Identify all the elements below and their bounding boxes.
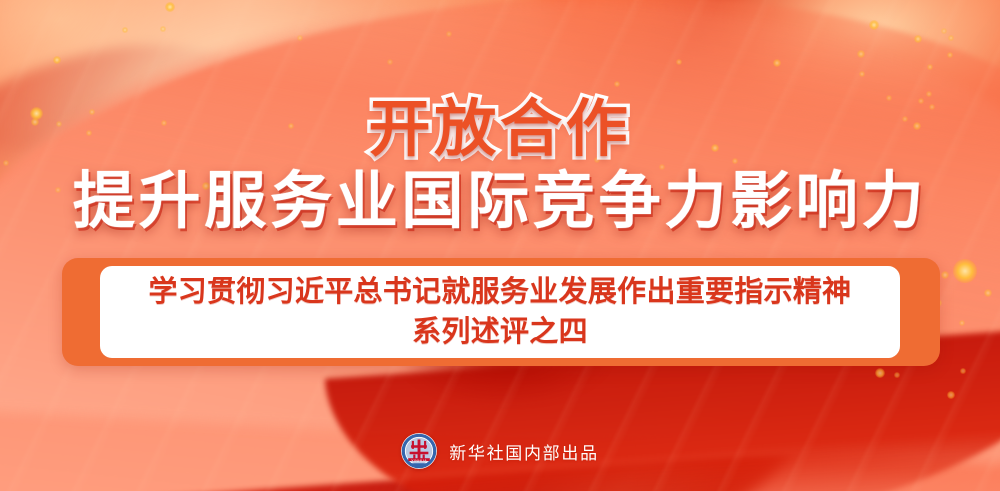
headline-secondary: 提升服务业国际竞争力影响力 [0, 168, 1000, 236]
gold-particle [875, 368, 885, 378]
gold-particle [859, 71, 864, 76]
gold-particle [857, 50, 865, 58]
bottom-coral-sweep [0, 0, 1000, 491]
gold-particle [941, 28, 946, 33]
footer-credit-row: XINHUA 新华社国内部出品 [0, 433, 1000, 469]
gold-particle [446, 31, 451, 36]
subtitle-line-2: 系列述评之四 [412, 313, 588, 351]
gold-particle [948, 35, 953, 40]
gold-particle [953, 259, 976, 282]
xinhua-logo-icon: XINHUA [401, 433, 437, 469]
gold-particle [984, 289, 992, 297]
svg-text:XINHUA: XINHUA [411, 458, 427, 463]
silk-ribbon-left [0, 6, 398, 491]
gold-particle [160, 26, 165, 31]
gold-particle [960, 368, 965, 373]
footer-credit-text: 新华社国内部出品 [449, 439, 599, 464]
gold-particle-field [0, 0, 1000, 491]
gold-particle [614, 81, 619, 86]
gold-particle [53, 56, 61, 64]
subtitle-line-1: 学习贯彻习近平总书记就服务业发展作出重要指示精神 [149, 273, 852, 311]
gold-particle [122, 27, 127, 32]
silk-streak-texture [0, 0, 1000, 491]
headline-primary: 开放合作 [0, 96, 1000, 164]
gold-particle [297, 35, 302, 40]
gold-particle [959, 320, 964, 325]
gold-particle [947, 391, 955, 399]
gold-particle [773, 59, 781, 67]
poster-root: 开放合作 提升服务业国际竞争力影响力 学习贯彻习近平总书记就服务业发展作出重要指… [0, 0, 1000, 491]
gold-particle [165, 2, 175, 12]
background-base-gradient [0, 0, 1000, 491]
gold-particle [941, 271, 949, 279]
gold-particle [387, 59, 392, 64]
gold-particle [927, 64, 932, 69]
gold-particle [947, 52, 952, 57]
gold-particle [869, 20, 879, 30]
subtitle-card: 学习贯彻习近平总书记就服务业发展作出重要指示精神 系列述评之四 [100, 266, 900, 358]
gold-particle [676, 59, 681, 64]
gold-particle [894, 372, 899, 377]
background-diagonal-bands [0, 0, 1000, 491]
gold-particle [914, 35, 922, 43]
